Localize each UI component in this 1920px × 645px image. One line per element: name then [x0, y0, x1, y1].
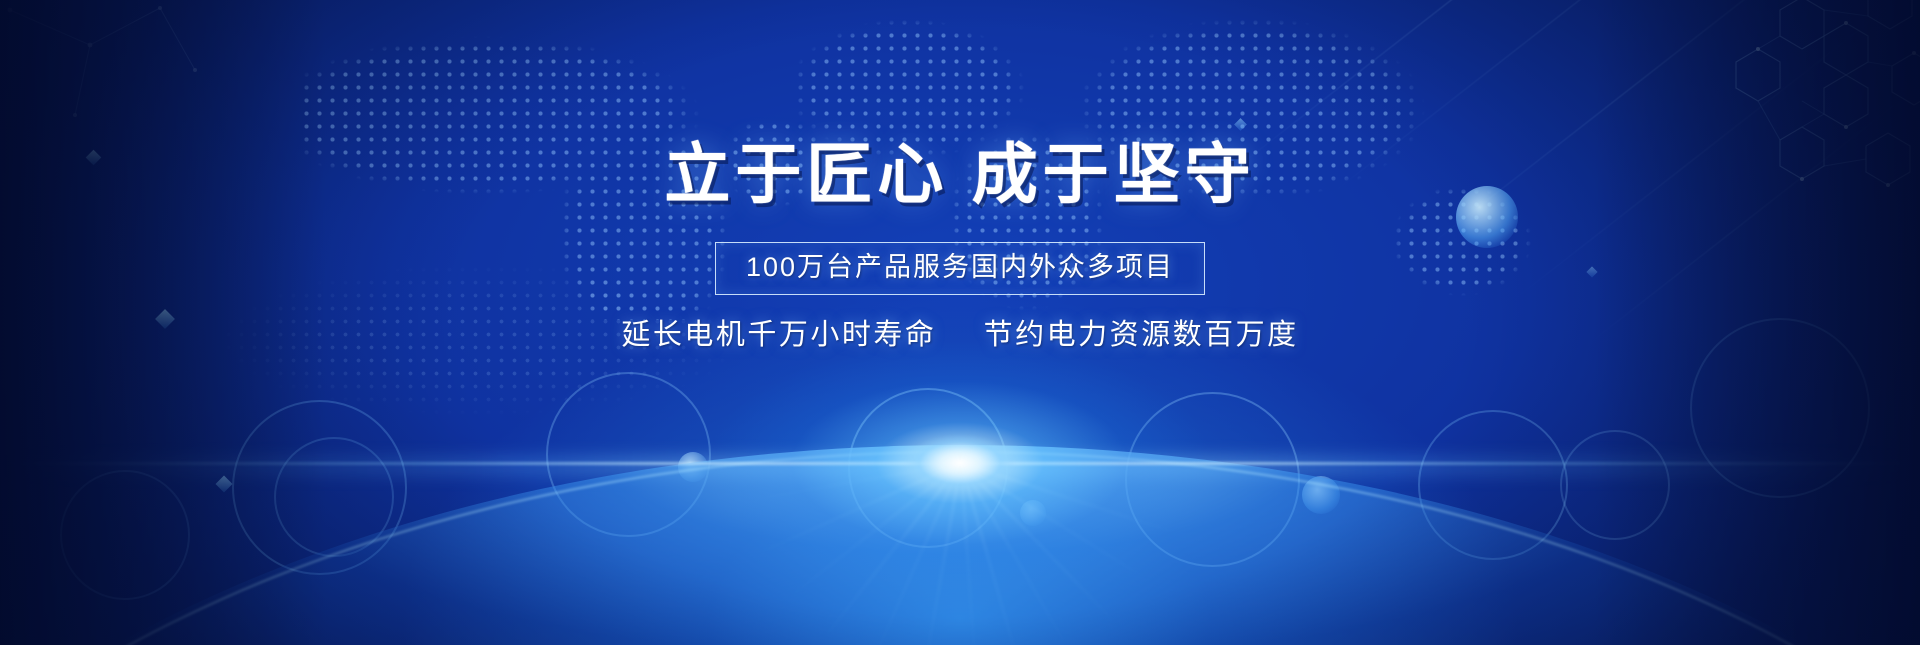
hero-banner: 立于匠心 成于坚守 100万台产品服务国内外众多项目 延长电机千万小时寿命 节约…: [0, 0, 1920, 645]
banner-headline: 立于匠心 成于坚守: [664, 141, 1255, 207]
banner-badge: 100万台产品服务国内外众多项目: [715, 242, 1205, 295]
tagline-right: 节约电力资源数百万度: [984, 319, 1299, 351]
banner-tagline: 延长电机千万小时寿命 节约电力资源数百万度: [621, 321, 1298, 350]
tagline-left: 延长电机千万小时寿命: [621, 319, 936, 351]
banner-content: 立于匠心 成于坚守 100万台产品服务国内外众多项目 延长电机千万小时寿命 节约…: [0, 0, 1920, 645]
